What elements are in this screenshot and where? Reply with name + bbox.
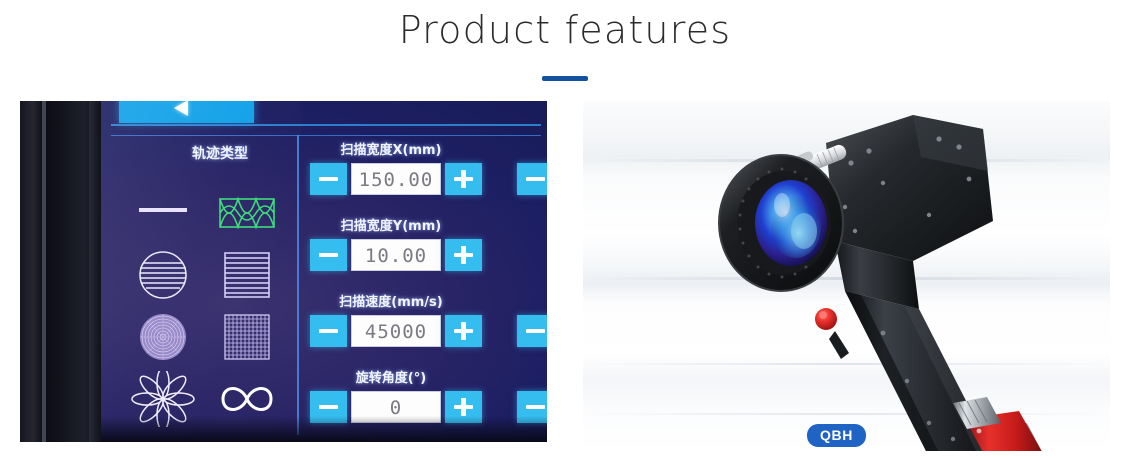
trajectory-option-grid-square[interactable] [211, 309, 283, 365]
minus-icon [319, 329, 338, 333]
qbh-badge: QBH [807, 424, 866, 447]
hmi-screen: 轨迹类型 [101, 101, 547, 442]
spiral-circle-trajectory-icon [127, 309, 199, 365]
trajectory-option-striped-square[interactable] [211, 247, 283, 303]
minus-icon [526, 405, 545, 409]
decrement-button[interactable] [310, 315, 347, 347]
edge-decrement-button-2[interactable] [517, 315, 547, 347]
minus-icon [319, 253, 338, 257]
column-divider [297, 135, 299, 435]
striped-square-trajectory-icon [211, 247, 283, 303]
trigger-guard [829, 331, 849, 359]
back-tab[interactable] [119, 101, 254, 123]
minus-icon [319, 405, 338, 409]
product-photo: QBH [583, 101, 1110, 451]
machine-bezel-outer [20, 101, 42, 442]
minus-icon [526, 329, 545, 333]
screen-bottom-shadow [101, 416, 547, 442]
minus-icon [526, 177, 545, 181]
laser-welding-head-illustration [583, 101, 1110, 451]
field-scan-width-y: 扫描宽度Y(mm) 10.00 [301, 215, 547, 289]
line-trajectory-icon [127, 185, 199, 241]
title-underline [542, 76, 588, 81]
trajectory-option-striped-circle[interactable] [127, 247, 199, 303]
trigger-button [815, 308, 837, 330]
increment-button[interactable] [445, 163, 482, 195]
field-value-input[interactable]: 10.00 [351, 239, 441, 271]
field-label: 扫描速度(mm/s) [301, 291, 481, 310]
field-label: 旋转角度(°) [301, 367, 481, 386]
lens-barrel [719, 155, 843, 291]
woven-rect-trajectory-icon [211, 185, 283, 241]
page-title: Product features [0, 8, 1130, 52]
plus-icon-v [461, 322, 466, 340]
field-label: 扫描宽度X(mm) [301, 139, 481, 158]
decrement-button[interactable] [310, 163, 347, 195]
trajectory-section-title: 轨迹类型 [145, 143, 295, 163]
decrement-button[interactable] [310, 239, 347, 271]
increment-button[interactable] [445, 315, 482, 347]
increment-button[interactable] [445, 239, 482, 271]
tab-underline [111, 124, 541, 126]
page-header: Product features [0, 0, 1130, 96]
field-value-input[interactable]: 45000 [351, 315, 441, 347]
trajectory-option-woven[interactable] [211, 185, 283, 241]
plus-icon-v [461, 246, 466, 264]
parameter-fields: 扫描宽度X(mm) 150.00 扫描宽度Y(mm) 10.00 扫描速度(mm… [301, 139, 547, 439]
edge-decrement-button-1[interactable] [517, 163, 547, 195]
back-arrow-icon [174, 101, 188, 116]
trajectory-icon-grid [127, 185, 297, 425]
plus-icon-v [461, 398, 466, 416]
hmi-touchscreen-panel: 轨迹类型 [20, 101, 547, 442]
striped-circle-trajectory-icon [127, 247, 199, 303]
header-rule [111, 135, 541, 136]
field-scan-width-x: 扫描宽度X(mm) 150.00 [301, 139, 547, 213]
field-label: 扫描宽度Y(mm) [301, 215, 481, 234]
trajectory-option-spiral-circle[interactable] [127, 309, 199, 365]
grid-square-trajectory-icon [211, 309, 283, 365]
plus-icon-v [461, 170, 466, 188]
field-value-input[interactable]: 150.00 [351, 163, 441, 195]
minus-icon [319, 177, 338, 181]
trajectory-option-line[interactable] [127, 185, 199, 241]
field-scan-speed: 扫描速度(mm/s) 45000 [301, 291, 547, 365]
